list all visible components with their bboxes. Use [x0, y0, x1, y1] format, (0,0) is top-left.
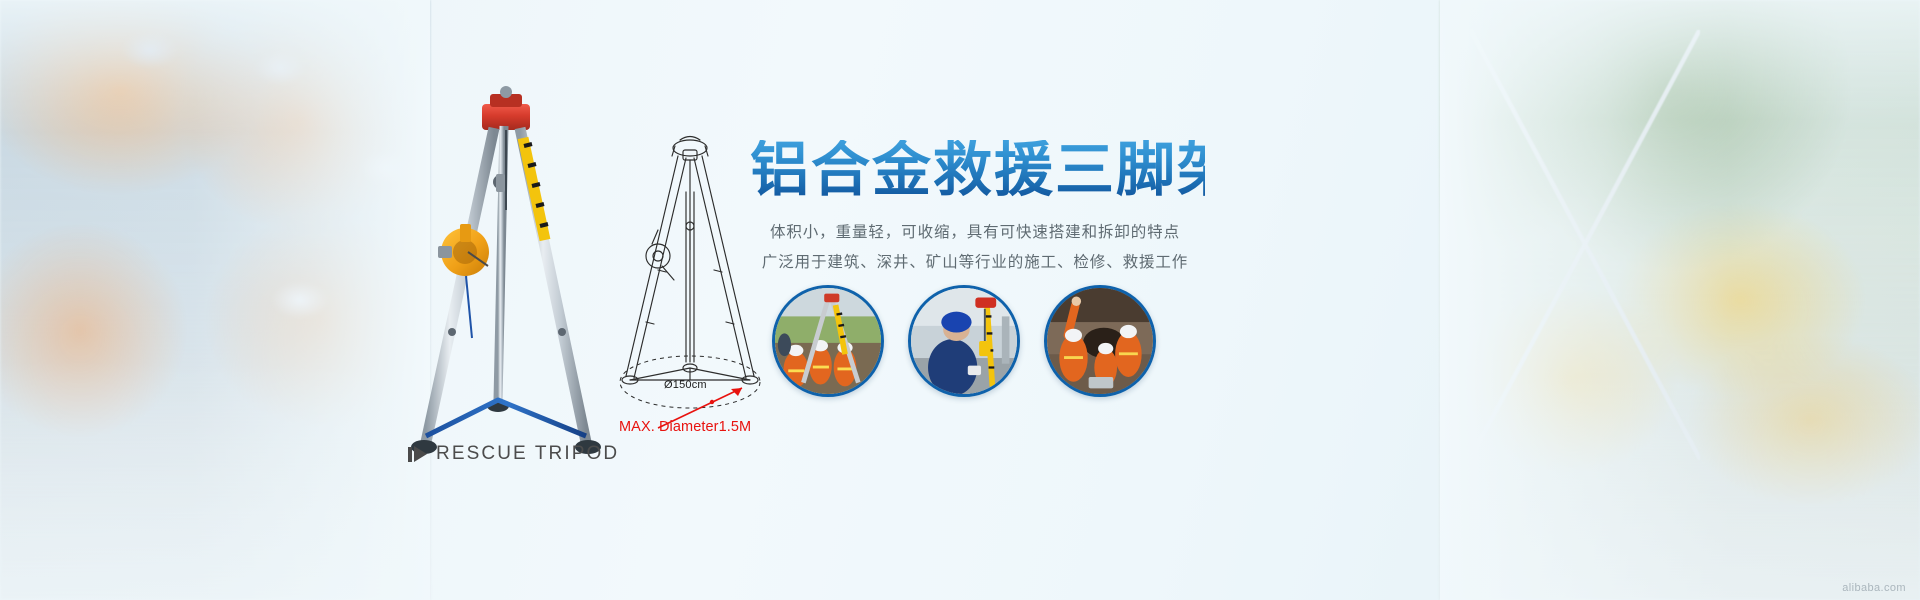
diameter-dimension-label: Ø150cm	[664, 379, 707, 391]
photo-right-tripod-silhouette	[1470, 30, 1700, 460]
photo-left-fade	[0, 0, 430, 600]
thumbnail-worker-inspection[interactable]	[908, 285, 1020, 397]
subtitle-block: 体积小，重量轻，可收缩，具有可快速搭建和拆卸的特点 广泛用于建筑、深井、矿山等行…	[745, 218, 1205, 278]
subtitle-line-2: 广泛用于建筑、深井、矿山等行业的施工、检修、救援工作	[745, 248, 1205, 278]
max-diameter-note: MAX. Diameter1.5M	[619, 419, 751, 435]
play-triangle-icon	[408, 446, 427, 462]
subtitle-line-1: 体积小，重量轻，可收缩，具有可快速搭建和拆卸的特点	[745, 218, 1205, 248]
thumbnail-field-rescue-team[interactable]	[772, 285, 884, 397]
photo-right-vertical-fade	[1440, 0, 1920, 600]
photo-right-fade	[1440, 0, 1920, 600]
thumbnail-confined-space-rescue[interactable]	[1044, 285, 1156, 397]
product-banner: Ø150cm MAX. Diameter1.5M RESCUE TRIPOD 铝…	[0, 0, 1920, 600]
thumbnail-strip	[772, 285, 1156, 397]
photo-left-vertical-fade	[0, 0, 430, 600]
background-photo-left	[0, 0, 430, 600]
photo-left-base	[0, 0, 430, 600]
watermark: alibaba.com	[1842, 582, 1906, 594]
photo-left-helmet-highlights	[0, 0, 430, 600]
photo-right-base	[1440, 0, 1920, 600]
page-title: 铝合金救援三脚架	[750, 140, 1205, 202]
background-photo-right	[1440, 0, 1920, 600]
rescue-tripod-caption: RESCUE TRIPOD	[408, 443, 619, 465]
rescue-tripod-label: RESCUE TRIPOD	[436, 443, 619, 465]
banner-text-column: 铝合金救援三脚架 体积小，重量轻，可收缩，具有可快速搭建和拆卸的特点 广泛用于建…	[745, 140, 1205, 278]
